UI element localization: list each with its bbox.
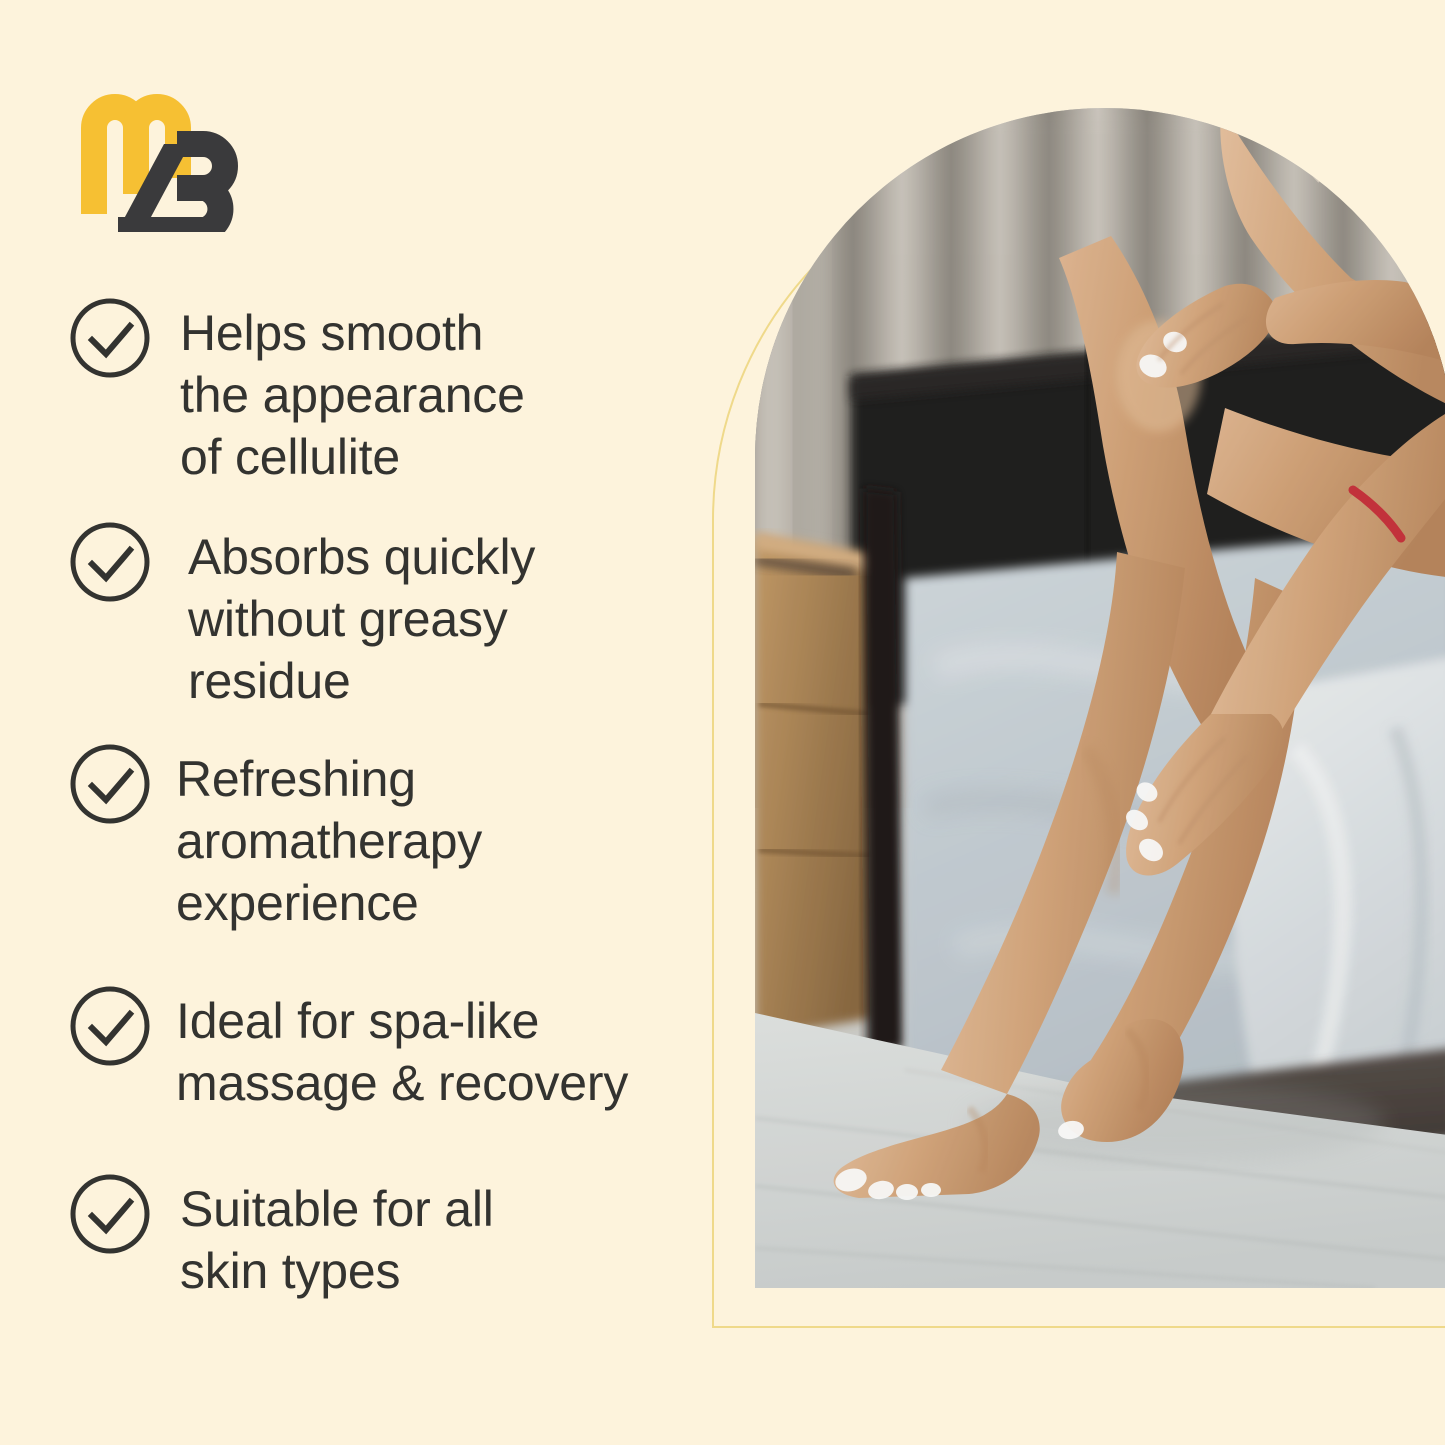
benefit-item-absorbs-quickly: Absorbs quickly without greasy residue	[68, 520, 708, 712]
check-circle-icon	[68, 742, 152, 826]
benefit-item-smooth-cellulite: Helps smooth the appearance of cellulite	[68, 296, 708, 488]
check-circle-icon	[68, 984, 152, 1068]
product-infographic: Helps smooth the appearance of cellulite…	[0, 0, 1445, 1445]
check-circle-icon	[68, 1172, 152, 1256]
check-circle-icon	[68, 520, 152, 604]
benefit-item-spa-massage: Ideal for spa-like massage & recovery	[68, 984, 708, 1114]
lifestyle-photo	[755, 108, 1445, 1288]
check-circle-icon	[68, 296, 152, 380]
benefit-label: Absorbs quickly without greasy residue	[188, 520, 535, 712]
benefits-list: Helps smooth the appearance of cellulite…	[68, 296, 708, 1302]
benefit-item-all-skin-types: Suitable for all skin types	[68, 1172, 708, 1302]
benefit-item-aromatherapy: Refreshing aromatherapy experience	[68, 742, 708, 934]
mb-monogram-logo	[78, 82, 243, 232]
benefit-label: Ideal for spa-like massage & recovery	[176, 984, 628, 1114]
benefit-label: Suitable for all skin types	[180, 1172, 494, 1302]
benefit-label: Refreshing aromatherapy experience	[176, 742, 482, 934]
benefit-label: Helps smooth the appearance of cellulite	[180, 296, 525, 488]
